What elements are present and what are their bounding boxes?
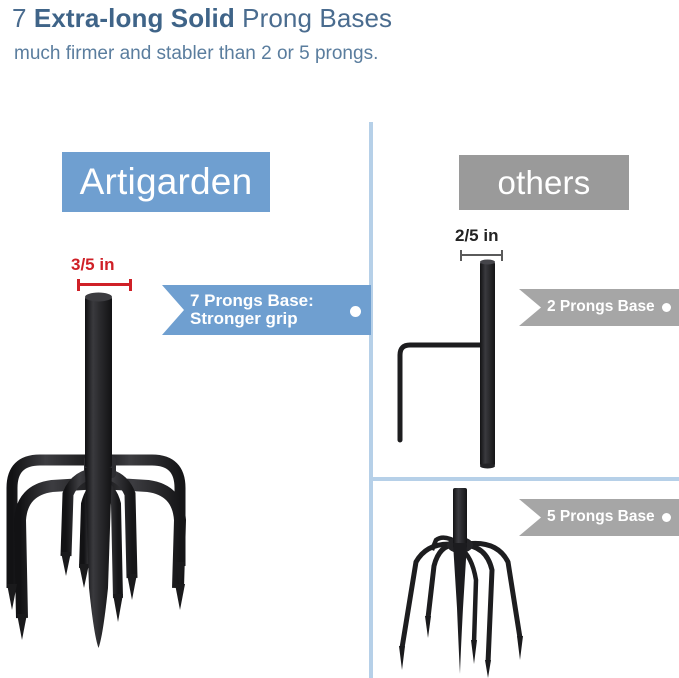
banner-dot-icon [662, 513, 671, 522]
vertical-divider [369, 122, 373, 678]
title-emphasis: Extra-long Solid [34, 3, 235, 33]
page-title: 7 Extra-long Solid Prong Bases [12, 2, 392, 34]
brand-badge: Artigarden [62, 152, 270, 212]
dimension-3-5-in: 3/5 in [71, 255, 145, 289]
title-prefix: 7 [12, 3, 34, 33]
title-suffix: Prong Bases [235, 3, 392, 33]
others-badge-label: others [498, 164, 591, 202]
product-image-5-prong-fork [392, 488, 582, 678]
product-image-2-prong-stake [392, 255, 542, 483]
callout-2-prongs: 2 Prongs Base [519, 289, 679, 326]
others-badge: others [459, 155, 629, 210]
product-image-7-prong-fork [0, 288, 236, 672]
banner-dot-icon [350, 306, 361, 317]
dimension-3-5-in-label: 3/5 in [71, 255, 114, 275]
infographic-canvas: 7 Extra-long Solid Prong Bases much firm… [0, 0, 679, 678]
page-subtitle: much firmer and stabler than 2 or 5 pron… [14, 41, 378, 67]
brand-badge-label: Artigarden [80, 161, 253, 203]
dimension-2-5-in-label: 2/5 in [455, 226, 498, 246]
banner-dot-icon [662, 303, 671, 312]
